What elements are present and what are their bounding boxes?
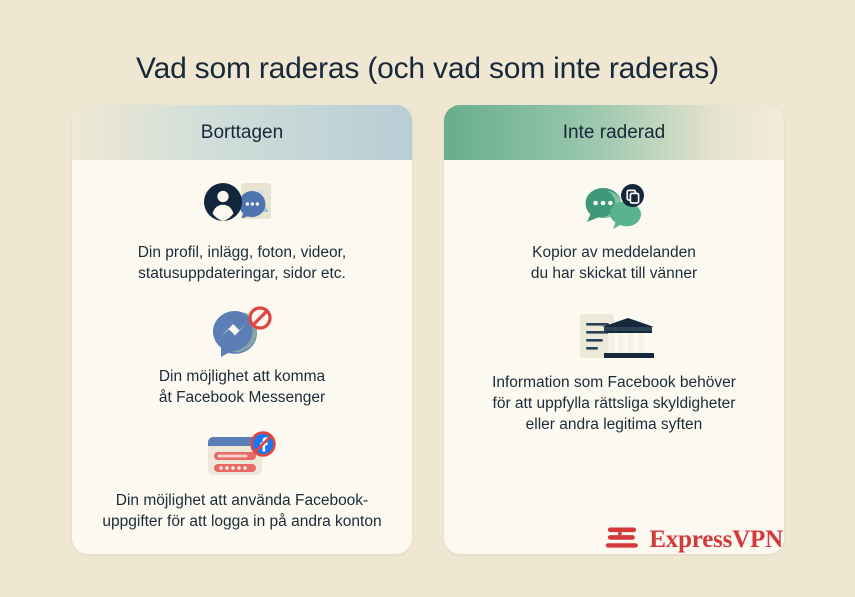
comparison-cards: Borttagen [72, 105, 784, 554]
brand-name: ExpressVPN [649, 526, 783, 554]
list-item: Kopior av meddelanden du har skickat til… [460, 178, 768, 284]
card-body-borttagen: Din profil, inlägg, foton, videor, statu… [72, 160, 412, 554]
text-line: eller andra legitima syften [492, 414, 736, 435]
card-header-inte-raderad: Inte raderad [444, 105, 784, 160]
expressvpn-logo-icon [605, 522, 639, 557]
list-item: Din möjlighet att använda Facebook- uppg… [88, 426, 396, 532]
login-credentials-blocked-icon [202, 426, 282, 488]
card-header-label: Borttagen [201, 122, 283, 144]
list-item-text: Din profil, inlägg, foton, videor, statu… [138, 242, 347, 284]
page-title: Vad som raderas (och vad som inte radera… [0, 52, 855, 86]
messenger-blocked-icon [209, 302, 275, 364]
list-item-text: Din möjlighet att använda Facebook- uppg… [102, 490, 381, 532]
list-item: Information som Facebook behöver för att… [460, 308, 768, 435]
profile-photo-chat-icon [203, 178, 281, 240]
text-line: åt Facebook Messenger [159, 387, 325, 408]
text-line: Din profil, inlägg, foton, videor, [138, 242, 347, 263]
card-header-borttagen: Borttagen [72, 105, 412, 160]
text-line: för att uppfylla rättsliga skyldigheter [492, 393, 736, 414]
list-item: Din profil, inlägg, foton, videor, statu… [88, 178, 396, 284]
list-item-text: Information som Facebook behöver för att… [492, 372, 736, 435]
card-body-inte-raderad: Kopior av meddelanden du har skickat til… [444, 160, 784, 554]
text-line: uppgifter för att logga in på andra kont… [102, 511, 381, 532]
card-header-label: Inte raderad [563, 122, 665, 144]
text-line: du har skickat till vänner [531, 263, 697, 284]
card-borttagen: Borttagen [72, 105, 412, 554]
text-line: statusuppdateringar, sidor etc. [138, 263, 347, 284]
text-line: Information som Facebook behöver [492, 372, 736, 393]
text-line: Din möjlighet att komma [159, 366, 325, 387]
document-institution-icon [570, 308, 658, 370]
list-item-text: Kopior av meddelanden du har skickat til… [531, 242, 697, 284]
text-line: Kopior av meddelanden [531, 242, 697, 263]
card-inte-raderad: Inte raderad [444, 105, 784, 554]
brand-logo: ExpressVPN [605, 522, 783, 557]
list-item-text: Din möjlighet att komma åt Facebook Mess… [159, 366, 325, 408]
text-line: Din möjlighet att använda Facebook- [102, 490, 381, 511]
list-item: Din möjlighet att komma åt Facebook Mess… [88, 302, 396, 408]
chat-copy-icon [577, 178, 651, 240]
